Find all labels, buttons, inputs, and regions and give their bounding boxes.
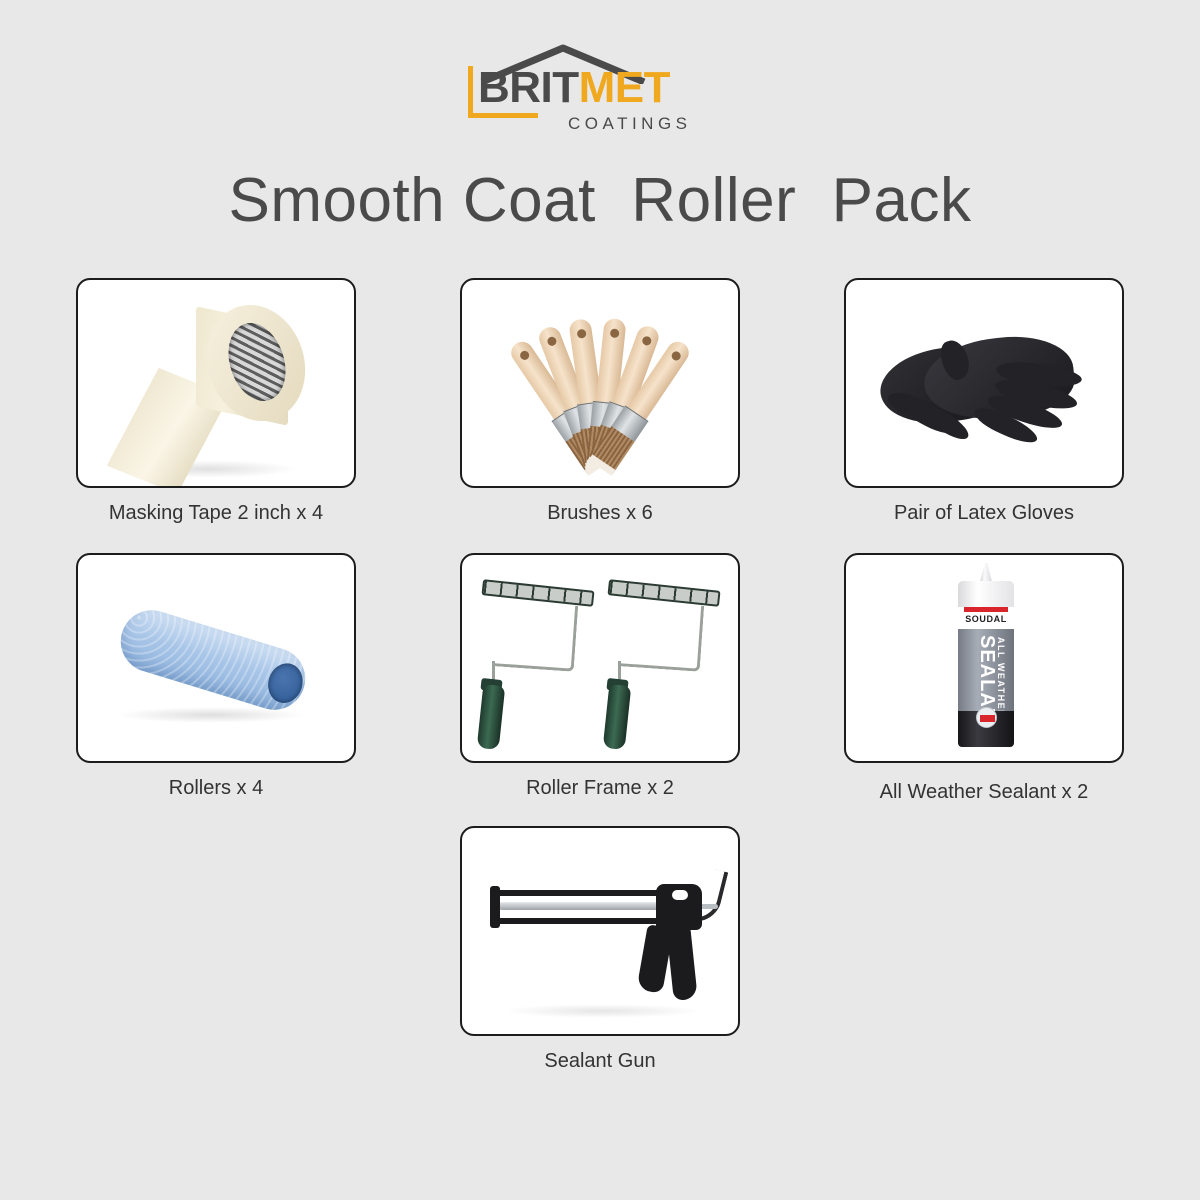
brand-logo: BRITMET COATINGS	[0, 44, 1200, 134]
product-cell-roller-frame: Roller Frame x 2	[460, 553, 740, 804]
product-card-latex-gloves[interactable]	[844, 278, 1124, 488]
caulking-gun-image	[462, 828, 738, 1034]
product-row-3: Sealant Gun	[0, 826, 1200, 1073]
product-card-roller-frame[interactable]	[460, 553, 740, 763]
product-pack-page: BRITMET COATINGS Smooth Coat Roller Pack	[0, 0, 1200, 1200]
product-row-2: Rollers x 4 Roller	[0, 553, 1200, 804]
roller-frame-2	[602, 577, 726, 749]
tube-seal-inner	[980, 715, 995, 722]
product-cell-all-weather-sealant: SOUDAL SEALANT ALL WEATHER	[844, 553, 1124, 804]
product-caption: Brushes x 6	[547, 502, 653, 525]
product-card-sealant-gun[interactable]	[460, 826, 740, 1036]
product-cell-latex-gloves: Pair of Latex Gloves	[844, 278, 1124, 525]
masking-tape-roll-image	[78, 280, 354, 486]
gun-plunger-rod	[498, 902, 676, 910]
product-caption: Sealant Gun	[544, 1050, 655, 1073]
sleeve-body	[113, 603, 313, 718]
roller-frames-image	[462, 555, 738, 761]
roller-frame-1	[476, 577, 600, 749]
product-caption: All Weather Sealant x 2	[880, 781, 1089, 804]
tube-all-weather-text: ALL WEATHER	[996, 637, 1006, 718]
page-title: Smooth Coat Roller Pack	[0, 165, 1200, 236]
tube-seal-badge	[976, 707, 997, 728]
product-caption: Roller Frame x 2	[526, 777, 674, 800]
product-card-masking-tape[interactable]	[76, 278, 356, 488]
product-cell-masking-tape: Masking Tape 2 inch x 4	[76, 278, 356, 525]
tube-brand-text: SOUDAL	[958, 614, 1014, 624]
sealant-cartridge-image: SOUDAL SEALANT ALL WEATHER	[846, 555, 1122, 761]
logo-met-text: MET	[579, 63, 670, 112]
black-latex-gloves-image	[846, 280, 1122, 486]
tube-red-bar	[964, 607, 1008, 612]
paint-brushes-image	[462, 280, 738, 486]
product-card-brushes[interactable]	[460, 278, 740, 488]
product-caption: Rollers x 4	[169, 777, 263, 800]
product-cell-rollers: Rollers x 4	[76, 553, 356, 804]
product-caption: Pair of Latex Gloves	[894, 502, 1074, 525]
product-cell-brushes: Brushes x 6	[460, 278, 740, 525]
product-caption: Masking Tape 2 inch x 4	[109, 502, 323, 525]
gun-barrel-top	[494, 890, 670, 896]
product-cell-sealant-gun: Sealant Gun	[460, 826, 740, 1073]
gun-barrel-bottom	[494, 918, 670, 924]
logo-brit-text: BRIT	[478, 63, 579, 112]
product-row-1: Masking Tape 2 inch x 4	[0, 278, 1200, 525]
product-card-all-weather-sealant[interactable]: SOUDAL SEALANT ALL WEATHER	[844, 553, 1124, 763]
gun-grip	[666, 925, 698, 1001]
logo-wordmark: BRITMET	[478, 66, 670, 110]
gun-head-hole	[672, 890, 688, 900]
gun-shadow	[502, 1004, 702, 1018]
product-grid: Masking Tape 2 inch x 4	[0, 278, 1200, 1073]
tube-body-outer: SOUDAL SEALANT ALL WEATHER	[958, 581, 1014, 747]
logo-subtitle: COATINGS	[568, 114, 692, 134]
logo-inner: BRITMET COATINGS	[460, 44, 740, 132]
product-card-rollers[interactable]	[76, 553, 356, 763]
roller-sleeve-image	[78, 555, 354, 761]
gun-end-plate	[490, 886, 500, 928]
